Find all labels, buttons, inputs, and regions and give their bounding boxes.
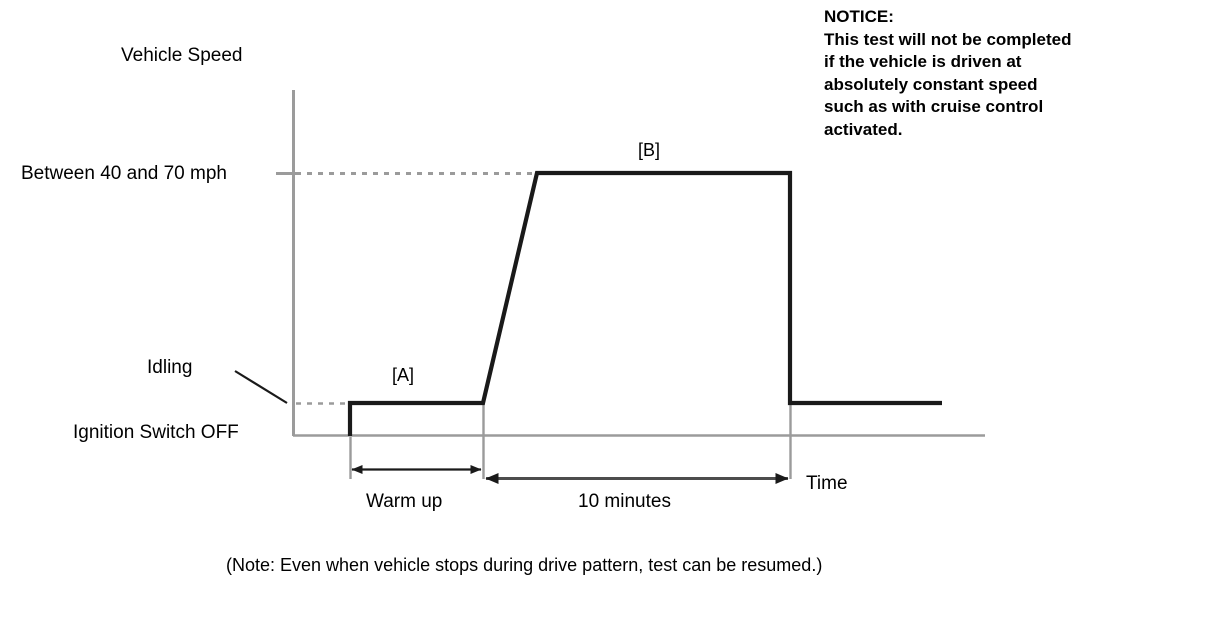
ignition-off-level-label: Ignition Switch OFF — [73, 423, 239, 442]
idling-level-label: Idling — [147, 358, 192, 377]
phase-b-marker: [B] — [638, 141, 660, 159]
top-speed-level-label: Between 40 and 70 mph — [21, 164, 227, 183]
notice-line-4: such as with cruise control — [824, 96, 1071, 119]
drive-interval-label: 10 minutes — [578, 492, 671, 511]
notice-line-2: if the vehicle is driven at — [824, 51, 1071, 74]
speed-trace — [350, 173, 942, 436]
notice-line-1: This test will not be completed — [824, 29, 1071, 52]
phase-a-marker: [A] — [392, 366, 414, 384]
notice-block: NOTICE: This test will not be completed … — [824, 6, 1071, 142]
y-axis-title: Vehicle Speed — [121, 46, 243, 65]
warm-up-interval-label: Warm up — [366, 492, 442, 511]
notice-line-3: absolutely constant speed — [824, 74, 1071, 97]
idling-leader-line — [235, 371, 287, 403]
x-axis-title: Time — [806, 474, 848, 493]
footnote: (Note: Even when vehicle stops during dr… — [226, 556, 822, 574]
notice-heading: NOTICE: — [824, 6, 1071, 29]
notice-line-5: activated. — [824, 119, 1071, 142]
